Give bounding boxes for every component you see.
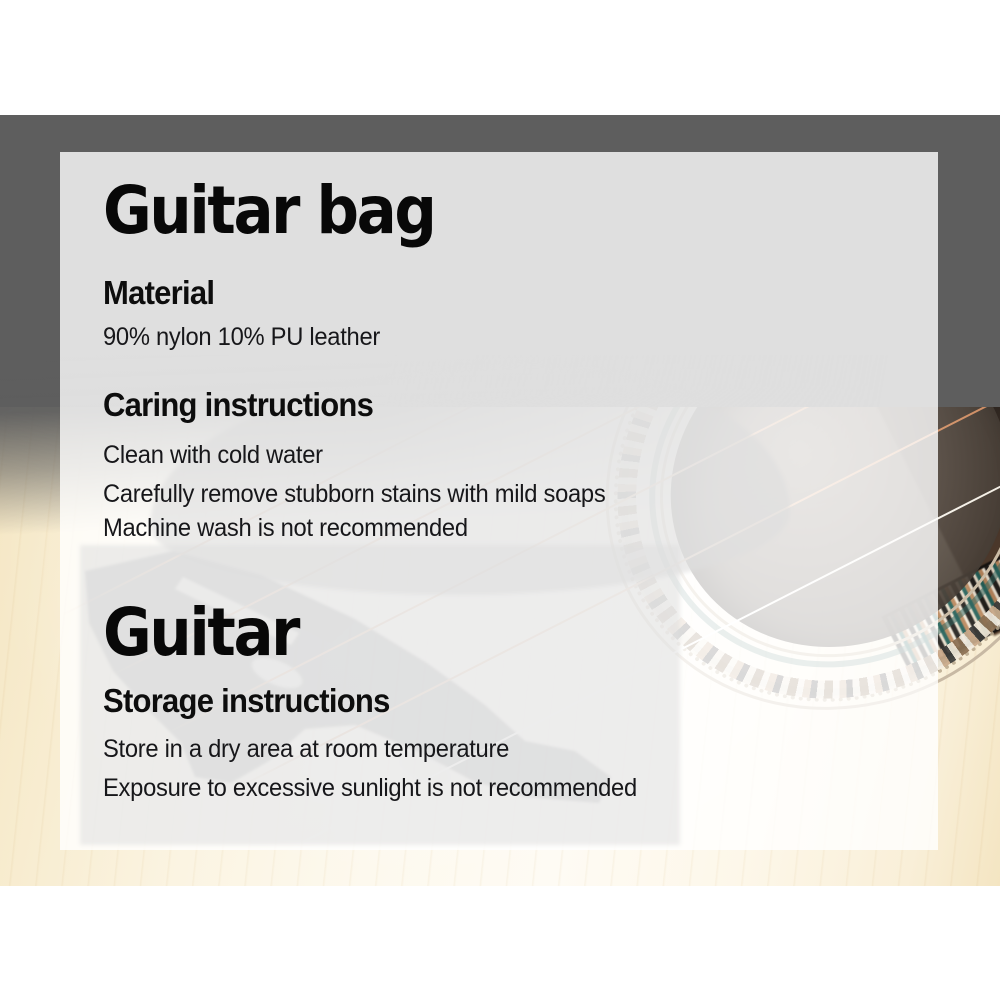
storage-line-2: Exposure to excessive sunlight is not re… bbox=[103, 776, 637, 801]
caring-line-2: Carefully remove stubborn stains with mi… bbox=[103, 482, 605, 507]
section-title-guitar: Guitar bbox=[103, 600, 298, 666]
material-line-1: 90% nylon 10% PU leather bbox=[103, 325, 380, 350]
storage-line-1: Store in a dry area at room temperature bbox=[103, 737, 509, 762]
heading-caring-instructions: Caring instructions bbox=[103, 388, 373, 421]
product-care-infographic: Guitar bag Material 90% nylon 10% PU lea… bbox=[0, 0, 1000, 1000]
heading-storage-instructions: Storage instructions bbox=[103, 684, 390, 717]
caring-line-3: Machine wash is not recommended bbox=[103, 516, 468, 541]
heading-material: Material bbox=[103, 276, 214, 309]
caring-line-1: Clean with cold water bbox=[103, 443, 323, 468]
section-title-guitar-bag: Guitar bag bbox=[103, 178, 435, 244]
